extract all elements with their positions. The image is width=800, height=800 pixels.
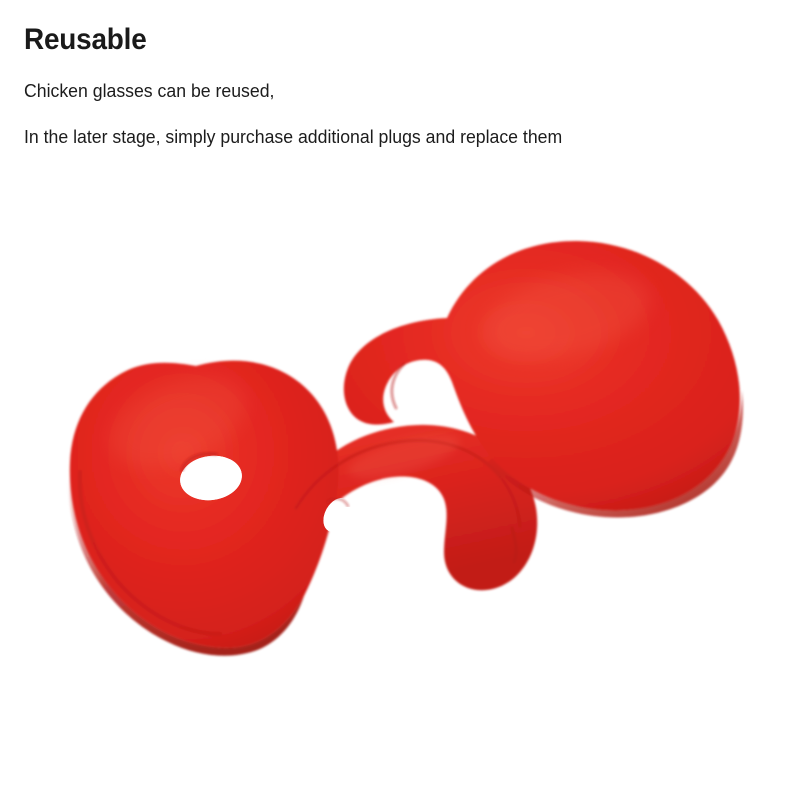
feature-description-line-2: In the later stage, simply purchase addi… xyxy=(24,124,731,150)
feature-text-block: Reusable Chicken glasses can be reused, … xyxy=(24,22,764,150)
product-image-stage: Red plastic chicken glasses / poultry bl… xyxy=(0,190,800,800)
page-title: Reusable xyxy=(24,22,712,58)
feature-description-line-1: Chicken glasses can be reused, xyxy=(24,78,731,104)
product-feature-page: Reusable Chicken glasses can be reused, … xyxy=(0,0,800,800)
product-photo-chicken-glasses: Red plastic chicken glasses / poultry bl… xyxy=(0,190,800,800)
